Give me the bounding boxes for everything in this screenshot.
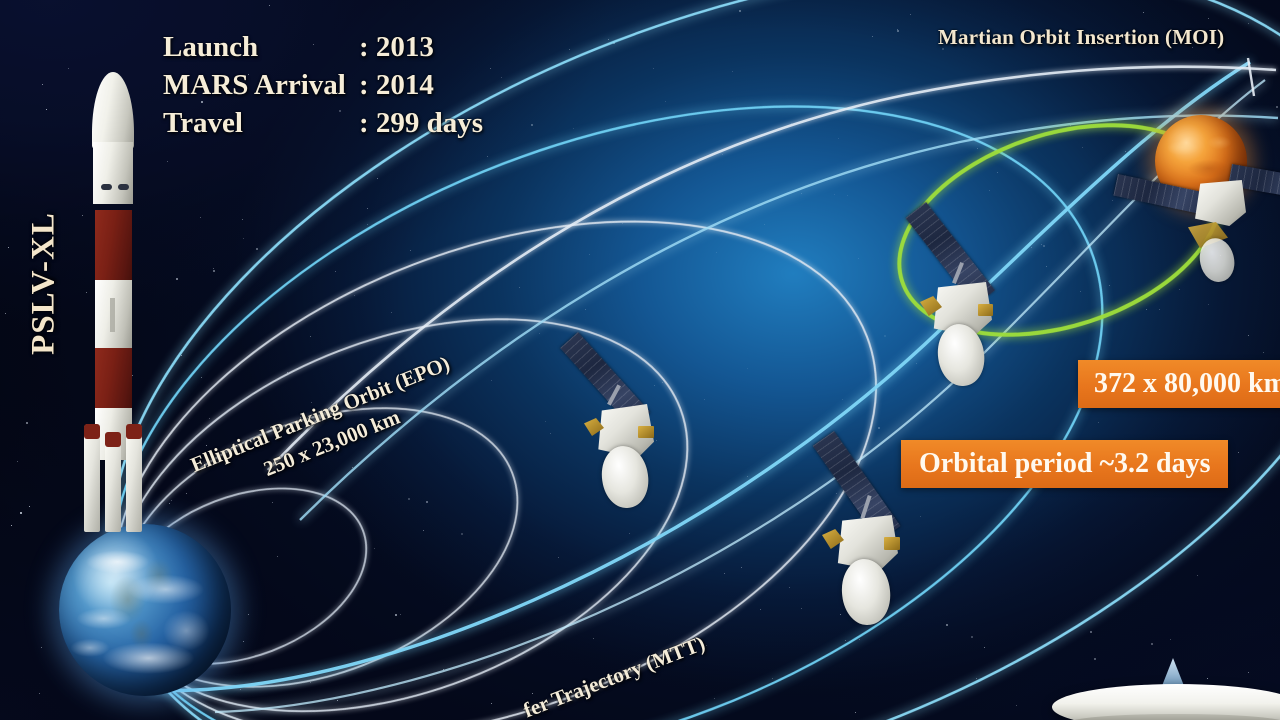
ground-station bbox=[1062, 640, 1280, 720]
instrument-gold bbox=[884, 537, 900, 550]
rocket-nose-cone bbox=[92, 72, 134, 150]
mission-info-value-arrival: : 2014 bbox=[359, 66, 434, 104]
pslv-xl-label: PSLV-XL bbox=[26, 194, 63, 374]
mission-info-row-launch: Launch : 2013 bbox=[163, 28, 483, 66]
rocket-port-left bbox=[101, 184, 112, 190]
mission-info-value-launch: : 2013 bbox=[359, 28, 434, 66]
rocket-booster-right-nose bbox=[126, 424, 142, 439]
instrument-gold bbox=[978, 304, 993, 316]
infographic-canvas: Launch : 2013 MARS Arrival : 2014 Travel… bbox=[0, 0, 1280, 720]
mission-info-value-travel: : 299 days bbox=[359, 104, 483, 142]
mission-info-row-travel: Travel : 299 days bbox=[163, 104, 483, 142]
rocket-port-right bbox=[118, 184, 129, 190]
mission-info-label-launch: Launch bbox=[163, 28, 359, 66]
mission-info-row-arrival: MARS Arrival : 2014 bbox=[163, 66, 483, 104]
pslv-xl-rocket bbox=[78, 72, 148, 532]
callout-orbital-period: Orbital period ~3.2 days bbox=[901, 440, 1228, 488]
high-gain-antenna bbox=[839, 557, 894, 628]
instrument-gold bbox=[638, 426, 654, 438]
rocket-stage-band-upper bbox=[95, 210, 132, 282]
rocket-upper-stage bbox=[93, 142, 133, 204]
rocket-stage-band-lower bbox=[95, 348, 132, 410]
mission-info-label-travel: Travel bbox=[163, 104, 359, 142]
rocket-booster-left bbox=[84, 424, 100, 532]
mission-info-label-arrival: MARS Arrival bbox=[163, 66, 359, 104]
spacecraft-center bbox=[560, 330, 750, 530]
spacecraft-bus bbox=[1194, 180, 1246, 226]
earth-planet bbox=[59, 524, 231, 696]
mission-info-block: Launch : 2013 MARS Arrival : 2014 Travel… bbox=[163, 28, 483, 142]
high-gain-antenna bbox=[598, 443, 652, 511]
high-gain-antenna bbox=[934, 321, 988, 389]
rocket-booster-center bbox=[105, 432, 121, 532]
callout-mars-orbit-dimensions: 372 x 80,000 km bbox=[1078, 360, 1280, 408]
rocket-booster-left-nose bbox=[84, 424, 100, 439]
moi-label: Martian Orbit Insertion (MOI) bbox=[938, 25, 1224, 50]
spacecraft-at-mars bbox=[1186, 170, 1280, 330]
rocket-booster-right bbox=[126, 424, 142, 532]
rocket-conduit bbox=[110, 298, 115, 332]
rocket-booster-center-nose bbox=[105, 432, 121, 447]
spacecraft-mars-orbit bbox=[898, 198, 1088, 398]
earth-clouds bbox=[59, 524, 231, 696]
